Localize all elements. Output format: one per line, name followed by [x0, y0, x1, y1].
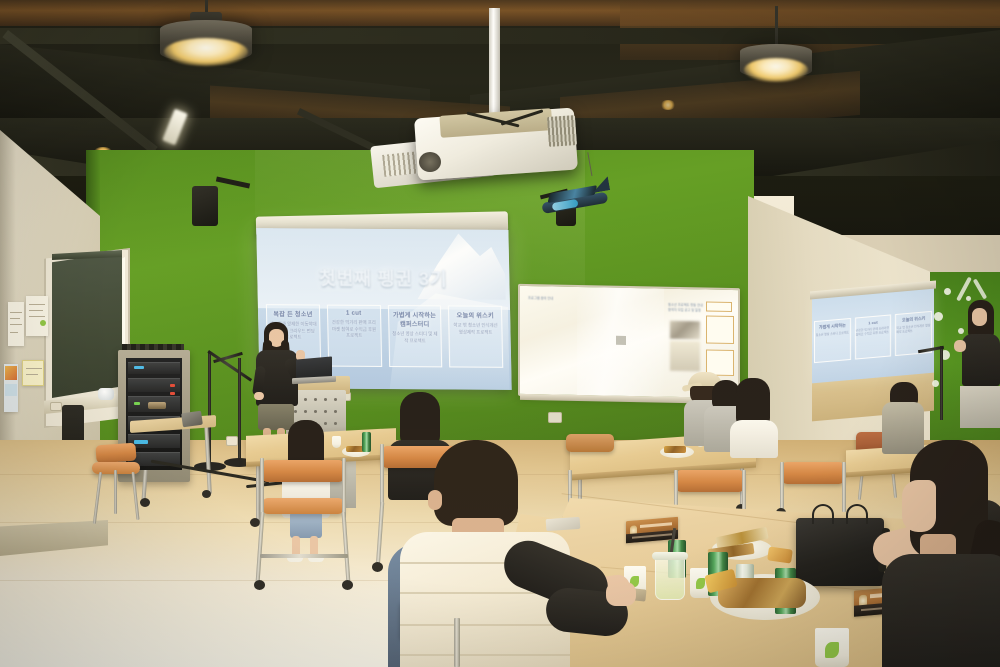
slide-title: 첫번째 펭귄 3기: [257, 264, 510, 292]
handbag-handle: [846, 504, 868, 524]
cup-leaf-logo: [825, 642, 839, 658]
mural-dot: [944, 288, 951, 295]
paper-cup[interactable]: [815, 628, 849, 667]
chair-frame: [380, 444, 384, 508]
slide-card-body: 청소년 영상 스터디 및 제작 프로젝트: [391, 331, 439, 345]
reflected-presenter-top: [962, 334, 1000, 386]
chair-seat[interactable]: [262, 498, 344, 514]
wall-outlet[interactable]: [548, 412, 562, 423]
wall-poster: [4, 364, 18, 412]
slide-card: 1 cut 건강한 먹거리 판매 프리마켓 참여로 수익금 후원 프로젝트: [327, 305, 382, 367]
right-slide-card-body: 청소년 영상 스터디 프로젝트: [816, 330, 849, 337]
desk-caster: [202, 490, 211, 498]
pendant-light-rod: [775, 6, 778, 48]
pendant-light-glow: [744, 58, 808, 82]
reflected-mic-stand: [940, 346, 943, 420]
reflected-presenter-face: [972, 308, 987, 326]
chair-frame: [260, 458, 264, 518]
rack-led-red: [170, 392, 175, 395]
projector-lens: [419, 152, 441, 172]
slide-card-body: 학교 밖 청소년 인식개선 영상제작 프로젝트: [452, 322, 500, 336]
right-slide-card-heading: 갸볍게 시작하는: [819, 322, 846, 330]
attendee-white-right: [730, 378, 782, 456]
rack-top-cables: [122, 344, 184, 350]
vest-quilt-line: [400, 654, 570, 656]
wall-poster: [26, 296, 48, 336]
cup-leaf-logo: [696, 578, 705, 589]
vest-quilt-line: [400, 624, 570, 626]
desk-device[interactable]: [181, 411, 203, 428]
rack-led-blue: [134, 366, 144, 369]
nameplate-text-line: [640, 522, 672, 528]
chair-frame: [842, 462, 846, 512]
reflected-podium: [960, 386, 1000, 428]
attendee-hand: [606, 582, 636, 606]
handbag-handle: [812, 504, 834, 524]
window-sill-object: [98, 388, 114, 400]
rack-led-blue: [134, 440, 148, 444]
chair-caster: [372, 562, 383, 572]
rack-knob[interactable]: [148, 402, 166, 409]
rack-led-red: [170, 384, 175, 387]
attendee-top: [730, 420, 778, 458]
rack-led-green: [134, 402, 140, 405]
whiteboard-note-text: 프로그램 참여 안내: [528, 296, 588, 302]
microphone-stand-pole[interactable]: [238, 358, 241, 466]
beverage-can[interactable]: [362, 432, 371, 452]
whiteboard-marker-mark: [616, 336, 626, 345]
slide-card: 오늘의 위스키 학교 밖 청소년 인식개선 영상제작 프로젝트: [448, 305, 503, 367]
attendee-foreground-right: [886, 440, 1000, 667]
mural-dot: [932, 380, 939, 387]
right-slide-card-body: 건강한 먹거리 판매 프리마켓 참여로 수익금 후원 프로젝트: [856, 325, 891, 336]
right-slide-card: 갸볍게 시작하는 청소년 영상 스터디 프로젝트: [814, 318, 851, 363]
chair-backrest[interactable]: [95, 443, 136, 464]
projector-ceiling-mount: [489, 8, 500, 120]
projector-side-vents: [547, 115, 577, 147]
chair-caster: [254, 580, 265, 590]
wall-outlet[interactable]: [226, 436, 238, 446]
wall-speaker: [192, 186, 218, 226]
reflected-presenter-hand: [954, 340, 966, 352]
iced-drink-cup[interactable]: [655, 556, 685, 600]
attendee-top: [882, 554, 1000, 667]
wall-poster: [8, 302, 24, 346]
presenter-hand: [254, 392, 264, 400]
slide-card-heading: 복잡 든 청소년: [273, 309, 312, 318]
attendee-pants: [290, 512, 322, 538]
chair-crossbar: [260, 554, 348, 558]
window-roller-blind[interactable]: [52, 252, 122, 398]
wall-outlet[interactable]: [50, 402, 62, 411]
chair-frame: [454, 618, 460, 667]
chair-backrest[interactable]: [676, 470, 744, 492]
right-slide-card-body: 학교 밖 청소년 인식개선 영상제작 프로젝트: [896, 323, 931, 334]
wall-poster: [22, 360, 44, 386]
chair-caster: [342, 580, 353, 590]
pendant-light-glow: [164, 38, 248, 66]
right-slide-card-heading: 오늘의 위스키: [902, 315, 925, 323]
whiteboard-photo-clipping: [670, 321, 700, 340]
right-slide-card: 1 cut 건강한 먹거리 판매 프리마켓 참여로 수익금 후원 프로젝트: [855, 314, 892, 359]
attendee-ear: [428, 490, 442, 510]
right-slide-card-heading: 1 cut: [868, 320, 877, 326]
attendee-puffer-vest: [416, 440, 636, 667]
right-projection-screen: 갸볍게 시작하는 청소년 영상 스터디 프로젝트 1 cut 건강한 먹거리 판…: [812, 287, 934, 384]
whiteboard-note: [706, 315, 734, 344]
right-slide-card-row: 갸볍게 시작하는 청소년 영상 스터디 프로젝트 1 cut 건강한 먹거리 판…: [814, 311, 932, 363]
slide-card-body: 건강한 먹거리 판매 프리마켓 참여로 수익금 후원 프로젝트: [330, 320, 378, 340]
slide-card: 가볍게 시작하는 캠퍼스터디 청소년 영상 스터디 및 제작 프로젝트: [387, 305, 442, 367]
handbag[interactable]: [796, 518, 884, 586]
attendee-face: [902, 480, 936, 532]
whiteboard-note: [706, 301, 732, 311]
recessed-ceiling-spot: [660, 100, 676, 110]
chair-frame: [780, 462, 784, 512]
slide-card-heading: 가볍게 시작하는 캠퍼스터디: [391, 310, 439, 328]
chair-leg: [114, 470, 117, 514]
chair-backrest[interactable]: [262, 460, 344, 482]
chair-backrest[interactable]: [782, 462, 844, 484]
attendee-white-top: [276, 420, 338, 570]
desk-caster: [140, 498, 150, 507]
seminar-room-photo: 첫번째 펭귄 3기 복잡 든 청소년 베이킹과 양제한 이동학대 인식개선 크라…: [0, 0, 1000, 667]
chair-frame: [342, 458, 346, 518]
slide-card-heading: 오늘의 위스키: [457, 311, 494, 320]
slide-card-heading: 1 cut: [346, 310, 362, 317]
cup-lid: [652, 552, 688, 560]
attendee-hair: [434, 440, 518, 526]
whiteboard-article-clipping: [670, 341, 700, 372]
mural-dot: [934, 312, 943, 321]
